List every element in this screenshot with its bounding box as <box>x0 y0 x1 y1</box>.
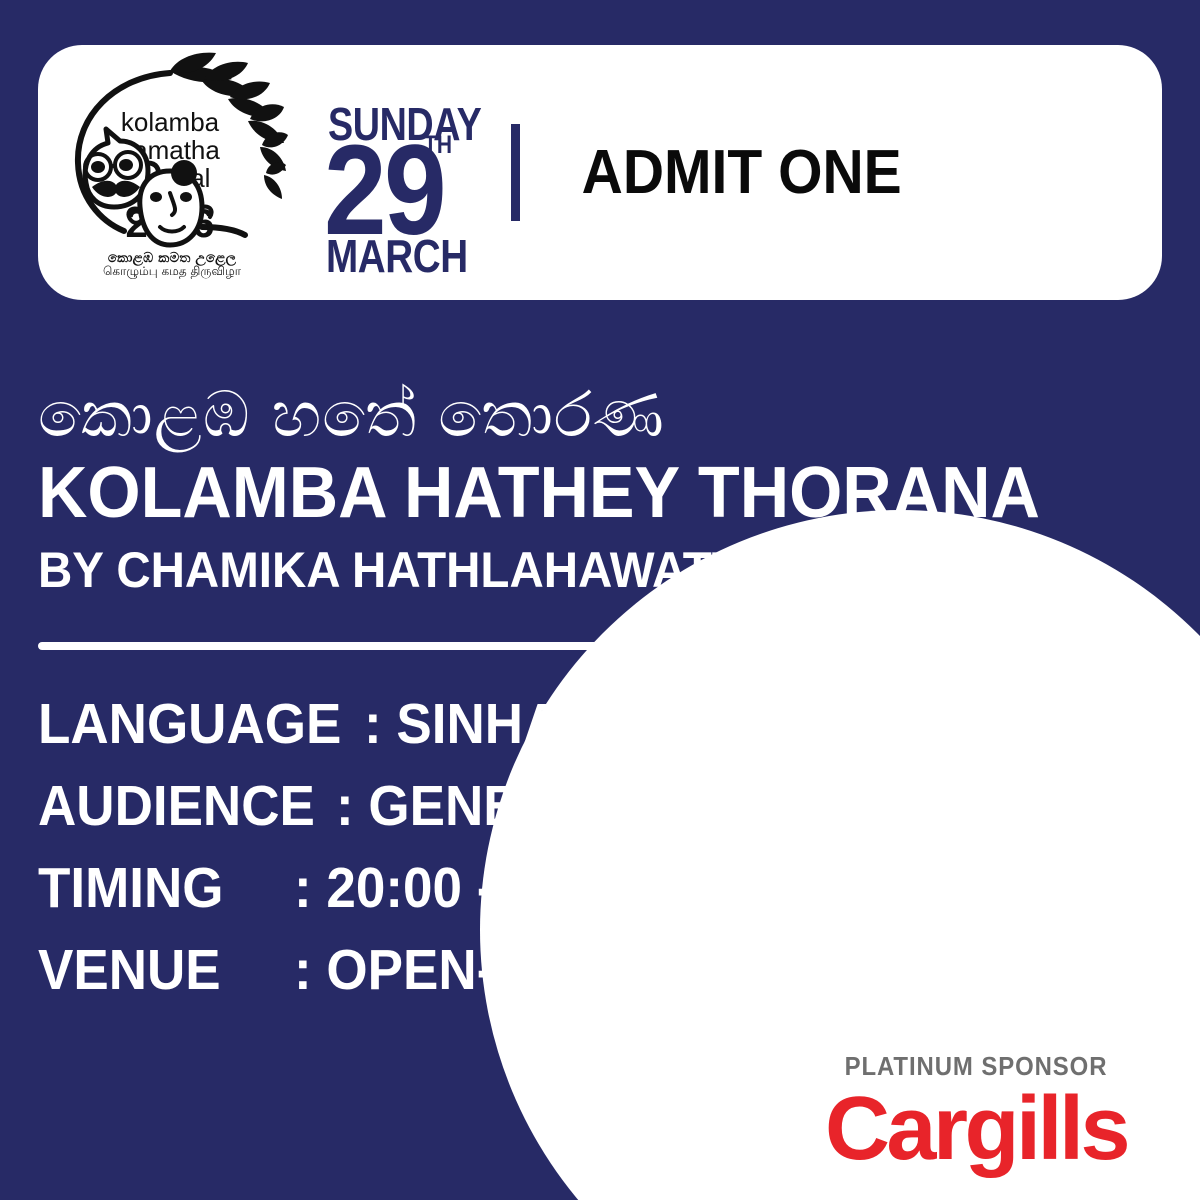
detail-row-audience: AUDIENCE : GENERAL <box>38 778 1158 860</box>
svg-text:kolamba: kolamba <box>121 107 220 137</box>
detail-row-timing: TIMING : 20:00 - 22:00 (120 MINS) <box>38 860 1158 942</box>
event-ticket-poster: kolamba kamatha festival 2026 <box>0 0 1200 1200</box>
detail-label-venue: VENUE <box>38 942 276 999</box>
detail-label-language: LANGUAGE <box>38 696 341 753</box>
event-details-list: LANGUAGE : SINHALA AUDIENCE : GENERAL TI… <box>38 696 1158 1024</box>
festival-logo-scripts: කොළඹ කමත උළෙල கொழும்பு கமத திருவிழா <box>38 251 306 278</box>
festival-logo: kolamba kamatha festival 2026 <box>38 45 306 300</box>
detail-value-venue: : OPEN-AIR THEATRE <box>294 942 847 999</box>
detail-value-timing: : 20:00 - 22:00 (120 MINS) <box>294 860 930 917</box>
event-body: කොළඹ හතේ තොරණ KOLAMBA HATHEY THORANA BY … <box>38 380 1158 1024</box>
detail-row-venue: VENUE : OPEN-AIR THEATRE <box>38 942 1158 1024</box>
detail-value-audience: : GENERAL <box>336 778 628 835</box>
section-divider <box>38 642 1160 650</box>
sponsor-logo-cargills: Cargills <box>786 1081 1166 1178</box>
festival-logo-mark: kolamba kamatha festival 2026 <box>52 51 292 256</box>
detail-row-language: LANGUAGE : SINHALA <box>38 696 1158 778</box>
event-date-block: SUNDAY 29 TH MARCH <box>306 45 521 300</box>
event-byline: BY CHAMIKA HATHLAHAWATTE <box>38 544 1102 597</box>
event-title-sinhala: කොළඹ හතේ තොරණ <box>38 380 1158 451</box>
sponsor-block: PLATINUM SPONSOR Cargills <box>786 1053 1166 1178</box>
detail-label-timing: TIMING <box>38 860 276 917</box>
detail-value-language: : SINHALA <box>364 696 632 753</box>
detail-label-audience: AUDIENCE <box>38 778 315 835</box>
sponsor-tier-label: PLATINUM SPONSOR <box>801 1053 1151 1079</box>
logo-tamil-text: கொழும்பு கமத திருவிழா <box>38 265 306 278</box>
date-month: MARCH <box>326 233 468 279</box>
date-ordinal-suffix: TH <box>424 133 452 158</box>
admit-one-label: ADMIT ONE <box>520 142 1111 204</box>
logo-sinhala-text: කොළඹ කමත උළෙල <box>38 251 306 265</box>
ticket-header-card: kolamba kamatha festival 2026 <box>38 45 1162 300</box>
event-title-english: KOLAMBA HATHEY THORANA <box>38 457 1102 530</box>
